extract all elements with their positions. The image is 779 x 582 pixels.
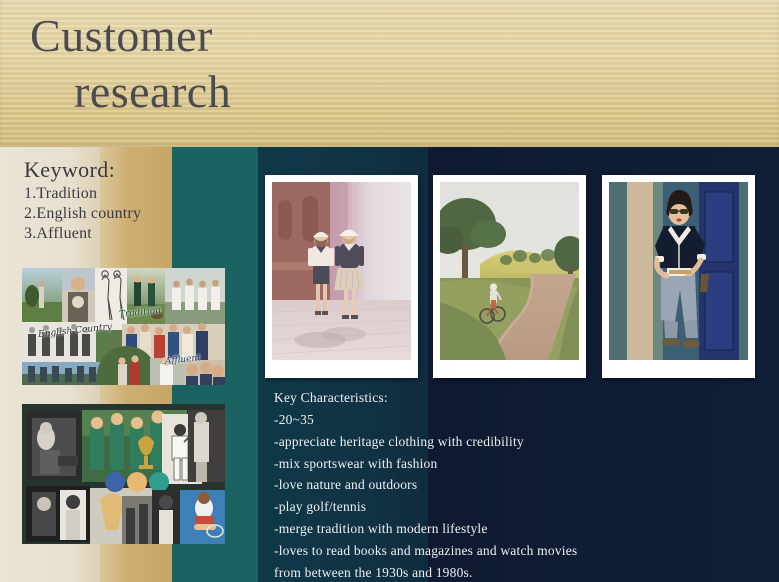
- keyword-item-2: 2.English country: [24, 204, 224, 224]
- header-band: Customer research: [0, 0, 779, 147]
- characteristics-item-8: from between the 1930s and 1980s.: [274, 562, 694, 582]
- keyword-item-1: 1.Tradition: [24, 184, 224, 204]
- woman-blue-door-photo-image: [609, 182, 748, 360]
- characteristics-item-1: -20~35: [274, 409, 694, 431]
- collage-2-artwork: [22, 404, 225, 544]
- keyword-heading: Keyword:: [24, 156, 224, 184]
- photo-2-artwork: [440, 182, 579, 360]
- cyclist-country-road-photo-image: [440, 182, 579, 360]
- characteristics-item-5: -play golf/tennis: [274, 496, 694, 518]
- keyword-item-3: 3.Affluent: [24, 224, 224, 244]
- characteristics-item-4: -love nature and outdoors: [274, 474, 694, 496]
- photo-3-artwork: [609, 182, 748, 360]
- page-title: Customer research: [30, 8, 510, 120]
- page-title-line2: research: [74, 64, 510, 120]
- woman-blue-door-photo: [602, 175, 755, 378]
- keyword-block: Keyword: 1.Tradition 2.English country 3…: [24, 156, 224, 245]
- photo-1-artwork: [272, 182, 411, 360]
- two-women-walking-photo-image: [272, 182, 411, 360]
- characteristics-item-6: -merge tradition with modern lifestyle: [274, 518, 694, 540]
- characteristics-item-3: -mix sportswear with fashion: [274, 453, 694, 475]
- page-title-line1: Customer: [30, 10, 213, 61]
- characteristics-heading: Key Characteristics:: [274, 387, 694, 409]
- key-characteristics-block: Key Characteristics: -20~35 -appreciate …: [274, 387, 694, 582]
- slide-customer-research: Customer research Keyword: 1.Tradition 2…: [0, 0, 779, 582]
- cyclist-country-road-photo: [433, 175, 586, 378]
- two-women-walking-photo: [265, 175, 418, 378]
- characteristics-item-2: -appreciate heritage clothing with credi…: [274, 431, 694, 453]
- collage-1-artwork: [22, 268, 225, 385]
- vintage-tennis-collage: [22, 404, 225, 544]
- lifestyle-mood-collage: English Country Tradition Affluent: [22, 268, 225, 385]
- characteristics-item-7: -loves to read books and magazines and w…: [274, 540, 694, 562]
